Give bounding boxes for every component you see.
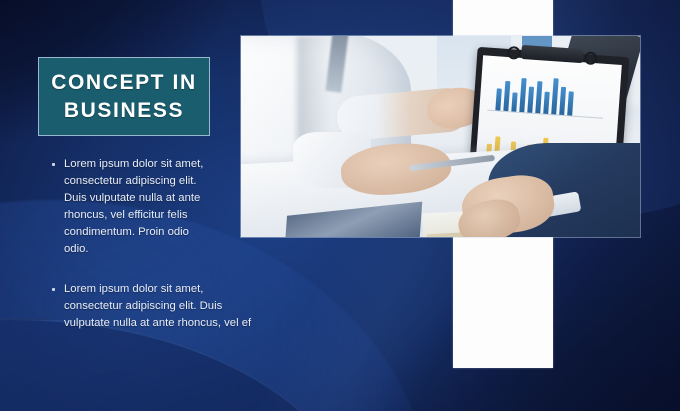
photo-chart-bar bbox=[543, 92, 550, 114]
bullet-text: Lorem ipsum dolor sit amet, consectetur … bbox=[64, 156, 204, 258]
slide-canvas: CONCEPT IN BUSINESS Lorem ipsum dolor si… bbox=[0, 0, 680, 411]
photo-chart-bar bbox=[511, 92, 517, 111]
slide-title-box: CONCEPT IN BUSINESS bbox=[38, 57, 210, 136]
bullet-item: Lorem ipsum dolor sit amet, consectetur … bbox=[52, 156, 204, 258]
photo-chart-bar bbox=[551, 78, 558, 114]
photo-chart-bar bbox=[535, 81, 542, 113]
photo-scene bbox=[241, 36, 640, 237]
bullet-dot-icon bbox=[52, 288, 55, 291]
slide-title-line-2: BUSINESS bbox=[64, 97, 184, 125]
slide-photo bbox=[241, 36, 640, 237]
photo-chart-bar bbox=[567, 91, 574, 115]
bullet-list: Lorem ipsum dolor sit amet, consectetur … bbox=[52, 156, 267, 332]
photo-chart-bar bbox=[503, 81, 510, 111]
bullet-item: Lorem ipsum dolor sit amet, consectetur … bbox=[52, 281, 260, 332]
slide-title-line-1: CONCEPT IN bbox=[51, 69, 197, 97]
photo-chart-bar bbox=[519, 78, 526, 112]
photo-chart-bar bbox=[559, 87, 566, 115]
photo-chart-bar bbox=[527, 87, 534, 113]
bullet-dot-icon bbox=[52, 163, 55, 166]
photo-chart-bar bbox=[495, 88, 502, 110]
bullet-text: Lorem ipsum dolor sit amet, consectetur … bbox=[64, 281, 260, 332]
